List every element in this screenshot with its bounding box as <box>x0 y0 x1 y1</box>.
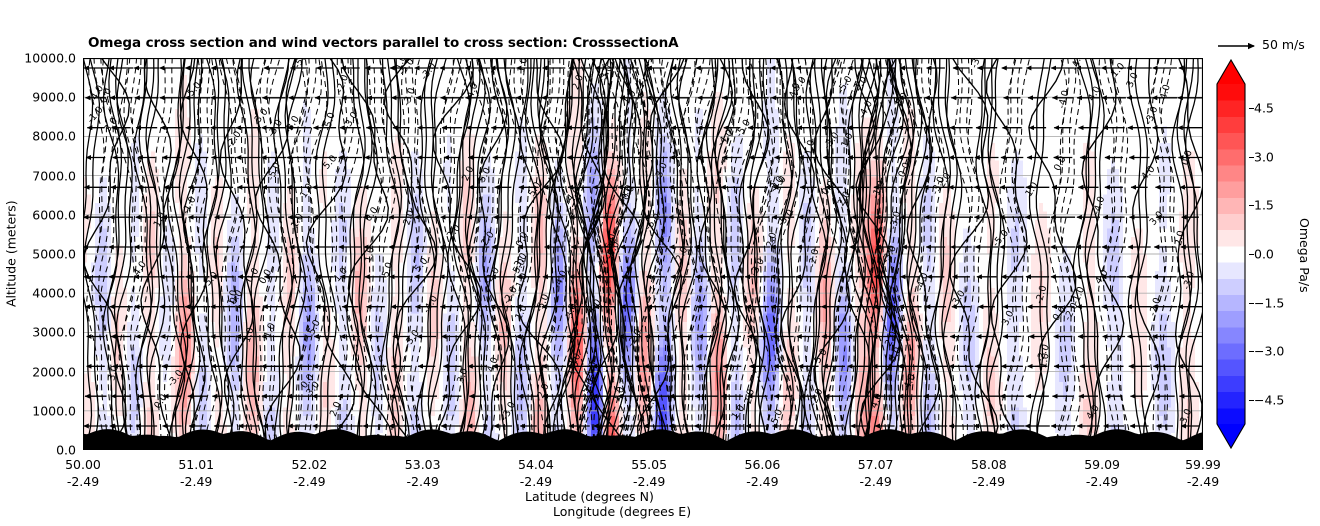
x-axis-ticks: 50.00-2.4951.01-2.4952.02-2.4953.03-2.49… <box>83 452 1203 494</box>
colorbar-tick-label: 3.0 <box>1254 149 1274 164</box>
y-tick-label: 7000.0 <box>32 168 76 183</box>
colorbar-tick-mark <box>1249 351 1254 352</box>
title-line-1: Omega cross section and wind vectors par… <box>88 36 1188 52</box>
colorbar-tick-mark <box>1249 254 1254 255</box>
y-tick-label: 3000.0 <box>32 325 76 340</box>
x-tick-label: 59.99-2.49 <box>1185 456 1221 490</box>
y-tick-label: 1000.0 <box>32 403 76 418</box>
colorbar-tick-mark <box>1249 108 1254 109</box>
colorbar <box>1213 58 1249 450</box>
omega-cross-section-svg: -3.0-1.03.02.0-5.05.0-3.00.0-5.00.0-4.05… <box>83 58 1203 450</box>
colorbar-extend-low <box>1217 424 1245 448</box>
y-tick-label: 9000.0 <box>32 90 76 105</box>
x-tick-label: 52.02-2.49 <box>292 456 328 490</box>
x-tick-label: 58.08-2.49 <box>971 456 1007 490</box>
colorbar-svg <box>1213 58 1249 450</box>
x-tick-label: 54.04-2.49 <box>518 456 554 490</box>
x-tick-label: 57.07-2.49 <box>858 456 894 490</box>
colorbar-extend-high <box>1217 60 1245 84</box>
y-tick-label: 6000.0 <box>32 207 76 222</box>
x-tick-label: 56.06-2.49 <box>744 456 780 490</box>
y-tick-label: 10000.0 <box>24 51 76 66</box>
colorbar-tick-label: 0.0 <box>1254 247 1274 262</box>
colorbar-ticks: 4.53.01.50.0−1.5−3.0−4.5 <box>1249 58 1295 450</box>
colorbar-label: Omega Pa/s <box>1292 160 1312 350</box>
wind-key-label: 50 m/s <box>1262 37 1305 52</box>
x-tick-label: 59.09-2.49 <box>1084 456 1120 490</box>
colorbar-tick-label: −1.5 <box>1254 295 1284 310</box>
x-axis-label-longitude: Longitude (degrees E) <box>553 504 691 519</box>
colorbar-tick-label: −4.5 <box>1254 392 1284 407</box>
y-tick-label: 5000.0 <box>32 247 76 262</box>
x-tick-label: 51.01-2.49 <box>178 456 214 490</box>
colorbar-tick-mark <box>1249 400 1254 401</box>
y-tick-label: 8000.0 <box>32 129 76 144</box>
colorbar-tick-label: −3.0 <box>1254 344 1284 359</box>
y-axis-ticks: 0.01000.02000.03000.04000.05000.06000.07… <box>0 58 76 450</box>
figure-root: Omega cross section and wind vectors par… <box>0 0 1320 526</box>
colorbar-tick-mark <box>1249 157 1254 158</box>
colorbar-tick-label: 4.5 <box>1254 101 1274 116</box>
x-tick-label: 53.03-2.49 <box>405 456 441 490</box>
colorbar-tick-mark <box>1249 205 1254 206</box>
colorbar-tick-label: 1.5 <box>1254 198 1274 213</box>
x-tick-label: 50.00-2.49 <box>65 456 101 490</box>
colorbar-tick-mark <box>1249 303 1254 304</box>
y-tick-label: 2000.0 <box>32 364 76 379</box>
y-tick-label: 4000.0 <box>32 286 76 301</box>
x-tick-label: 55.05-2.49 <box>631 456 667 490</box>
plot-area: -3.0-1.03.02.0-5.05.0-3.00.0-5.00.0-4.05… <box>83 58 1203 450</box>
x-axis-label-latitude: Latitude (degrees N) <box>525 489 654 504</box>
